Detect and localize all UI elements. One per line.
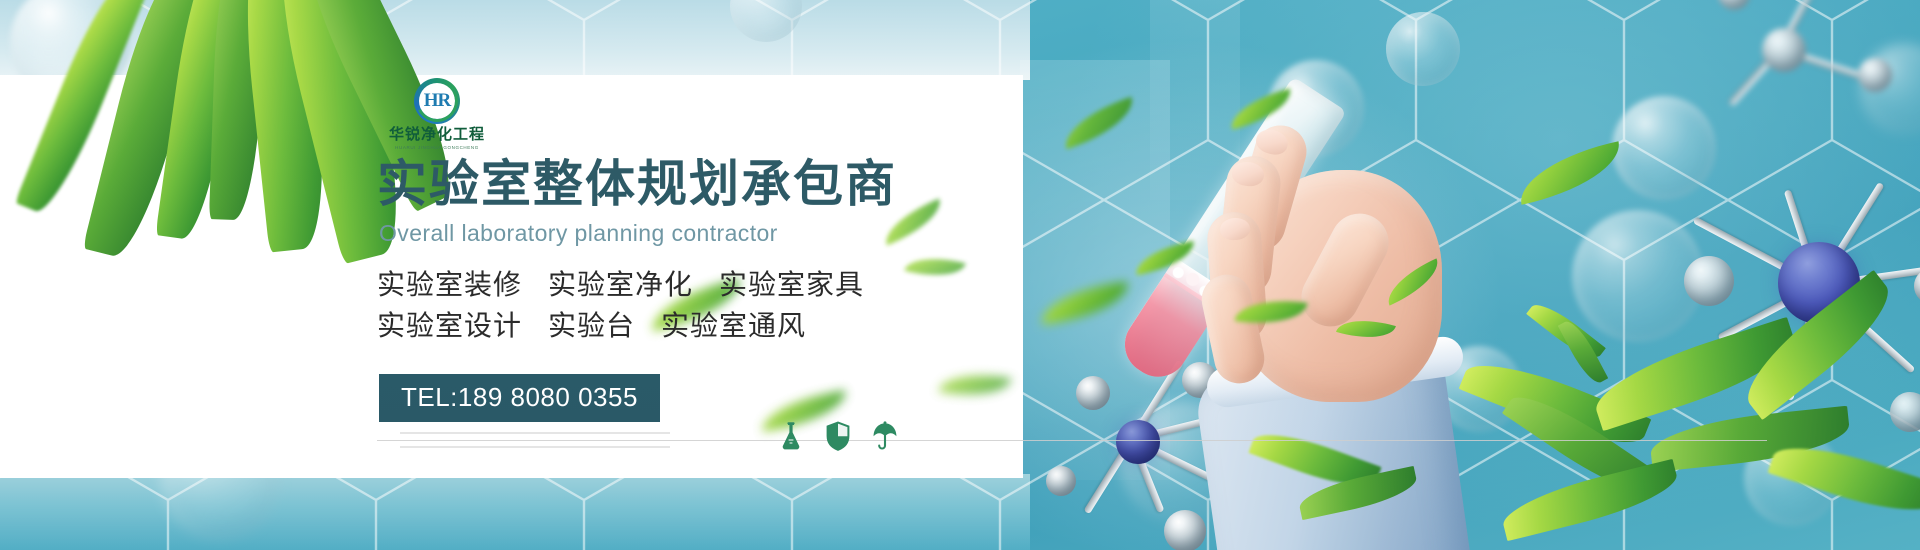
horizontal-divider-short-top: [400, 432, 670, 434]
telephone-button[interactable]: TEL:189 8080 0355: [379, 374, 660, 422]
card-content: HR 华锐净化工程 HUARUI JINGHUA GONGCHENG 实验室整体…: [0, 75, 1023, 478]
flask-icon: [778, 421, 804, 451]
service-item: 实验室家具: [719, 268, 864, 301]
service-line-2: 实验室设计实验台实验室通风: [377, 306, 864, 347]
page-subtitle: Overall laboratory planning contractor: [379, 220, 778, 247]
leaf-cluster-bottom-center: [1250, 408, 1470, 550]
service-item: 实验台: [548, 309, 635, 342]
leaf-sprig-near-tube: [1524, 290, 1664, 410]
horizontal-divider-short-bottom: [400, 446, 670, 448]
logo-arc-icon: [411, 75, 464, 128]
service-item: 实验室通风: [661, 309, 806, 342]
molecule-cluster-top-right: [1700, 0, 1920, 170]
shield-icon: [825, 421, 851, 451]
laboratory-promo-banner: HR 华锐净化工程 HUARUI JINGHUA GONGCHENG 实验室整体…: [0, 0, 1920, 550]
service-list: 实验室装修实验室净化实验室家具 实验室设计实验台实验室通风: [377, 265, 864, 346]
hr-circle-logo-icon: HR: [414, 78, 460, 124]
background-bottom-band: [0, 474, 1030, 550]
service-line-1: 实验室装修实验室净化实验室家具: [377, 265, 864, 306]
logo-company-pinyin: HUARUI JINGHUA GONGCHENG: [377, 145, 497, 150]
background-top-haze: [0, 0, 1030, 80]
horizontal-divider: [377, 440, 1767, 441]
service-item: 实验室装修: [377, 268, 522, 301]
umbrella-icon: [872, 421, 898, 451]
service-item: 实验室设计: [377, 309, 522, 342]
trust-badge-row: [778, 421, 898, 451]
logo-company-name: 华锐净化工程: [377, 127, 497, 144]
company-logo[interactable]: HR 华锐净化工程 HUARUI JINGHUA GONGCHENG: [377, 78, 497, 150]
page-title: 实验室整体规划承包商: [377, 159, 897, 209]
service-item: 实验室净化: [548, 268, 693, 301]
